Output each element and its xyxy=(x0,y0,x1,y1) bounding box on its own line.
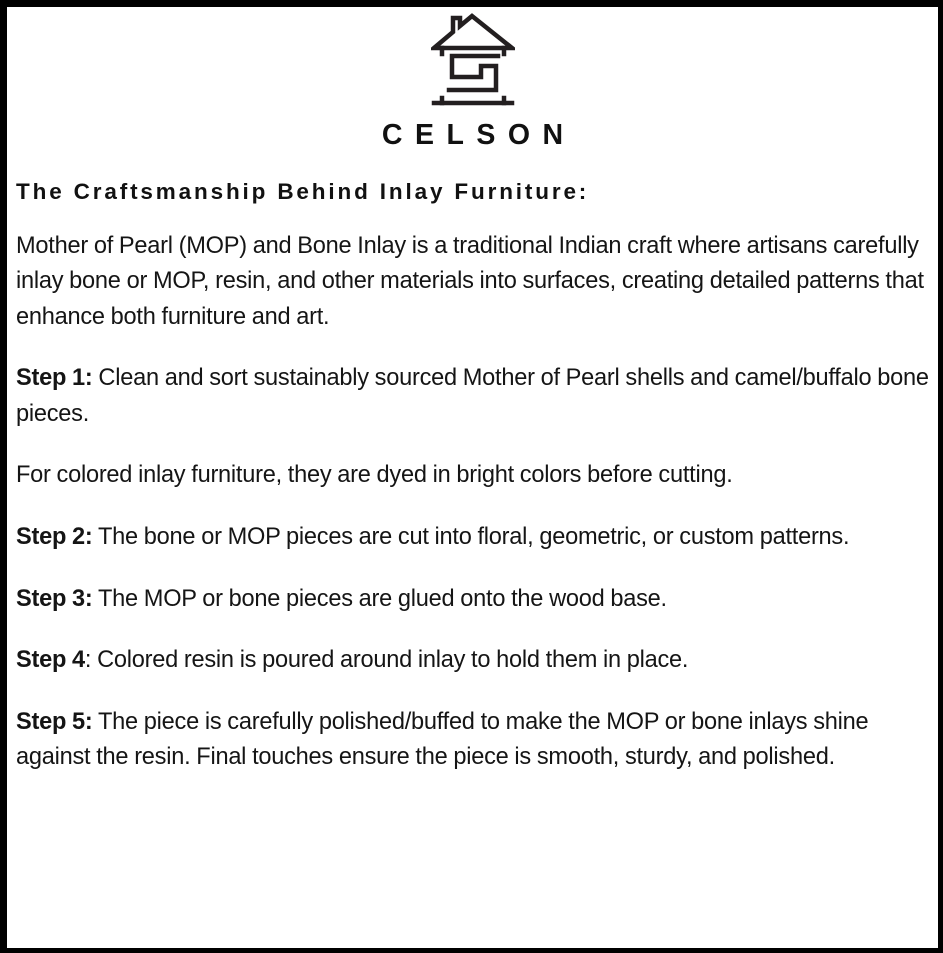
paragraph-text: The bone or MOP pieces are cut into flor… xyxy=(93,524,850,550)
paragraph-step-2: Step 2: The bone or MOP pieces are cut i… xyxy=(16,520,929,556)
paragraph-text: For colored inlay furniture, they are dy… xyxy=(16,462,733,488)
paragraph-lead: Step 5: xyxy=(16,709,93,735)
paragraph-text: Mother of Pearl (MOP) and Bone Inlay is … xyxy=(16,233,924,330)
paragraph-text: The MOP or bone pieces are glued onto th… xyxy=(93,586,667,612)
paragraph-step-3: Step 3: The MOP or bone pieces are glued… xyxy=(16,582,929,618)
paragraph-lead: Step 3: xyxy=(16,586,93,612)
poster-content: CELSON The Craftsmanship Behind Inlay Fu… xyxy=(7,7,938,948)
paragraph-colored-inlay-note: For colored inlay furniture, they are dy… xyxy=(16,458,929,494)
paragraph-lead: Step 2: xyxy=(16,524,93,550)
paragraph-step-4: Step 4: Colored resin is poured around i… xyxy=(16,643,929,679)
paragraph-lead: Step 4 xyxy=(16,647,85,673)
paragraph-step-1: Step 1: Clean and sort sustainably sourc… xyxy=(16,361,929,432)
paragraph-text: Clean and sort sustainably sourced Mothe… xyxy=(16,365,929,427)
paragraph-step-5: Step 5: The piece is carefully polished/… xyxy=(16,705,929,776)
page-title: The Craftsmanship Behind Inlay Furniture… xyxy=(16,178,929,205)
brand-name: CELSON xyxy=(16,121,929,150)
house-monogram-icon xyxy=(431,10,515,110)
paragraph-intro: Mother of Pearl (MOP) and Bone Inlay is … xyxy=(16,229,929,336)
poster-canvas: CELSON The Craftsmanship Behind Inlay Fu… xyxy=(0,0,943,953)
article-body: Mother of Pearl (MOP) and Bone Inlay is … xyxy=(16,229,929,777)
paragraph-lead: Step 1: xyxy=(16,365,93,391)
paragraph-text: : Colored resin is poured around inlay t… xyxy=(85,647,688,673)
brand-header: CELSON xyxy=(16,7,929,150)
paragraph-text: The piece is carefully polished/buffed t… xyxy=(16,709,868,771)
